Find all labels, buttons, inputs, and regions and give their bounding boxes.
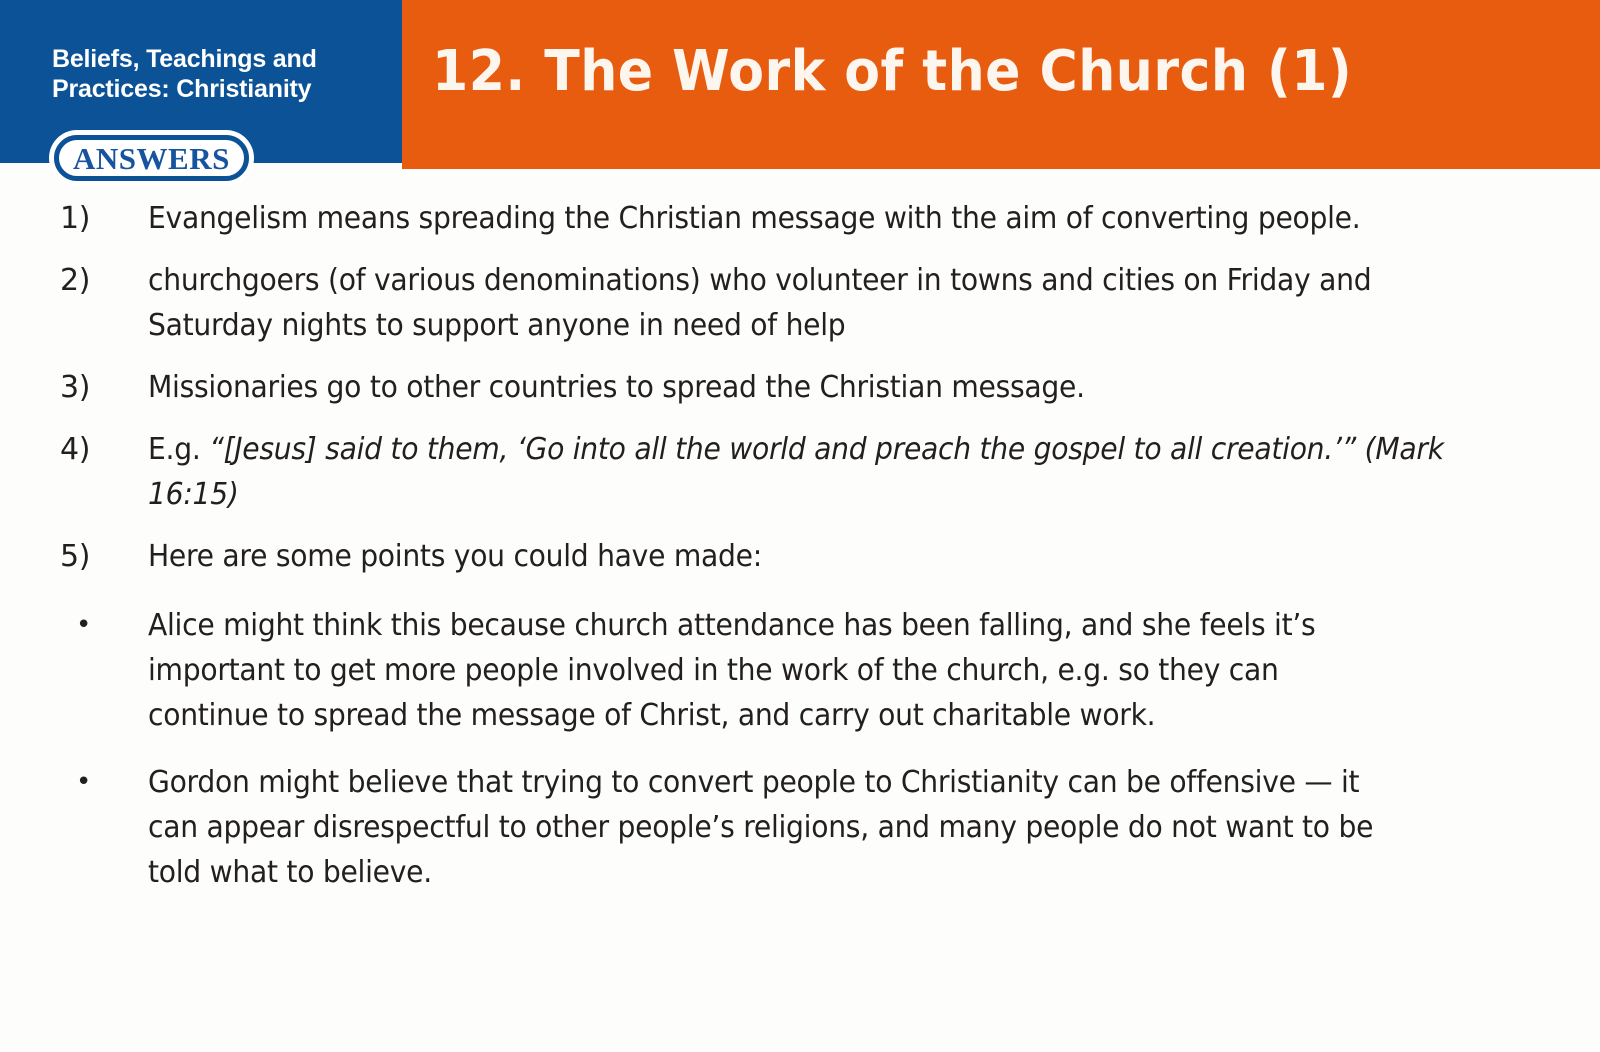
subject-title-line-2: Practices: Christianity bbox=[52, 74, 382, 104]
subject-title-line-1: Beliefs, Teachings and bbox=[52, 45, 317, 73]
answer-bullet-gordon: • Gordon might believe that trying to co… bbox=[0, 760, 1600, 895]
answer-text: Alice might think this because church at… bbox=[148, 603, 1400, 738]
answers-badge: ANSWERS bbox=[54, 135, 249, 181]
answer-item-4: 4) E.g. “[Jesus] said to them, ‘Go into … bbox=[0, 427, 1600, 517]
answer-item-5: 5) Here are some points you could have m… bbox=[0, 534, 1600, 579]
bullet-marker: • bbox=[76, 760, 148, 805]
answer-list: 1) Evangelism means spreading the Christ… bbox=[0, 196, 1600, 895]
answer-text: Gordon might believe that trying to conv… bbox=[148, 760, 1400, 895]
list-marker: 1) bbox=[60, 196, 132, 241]
answer-prefix: E.g. bbox=[148, 432, 209, 467]
page-title: 12. The Work of the Church (1) bbox=[432, 38, 1352, 106]
page-header: Beliefs, Teachings and Practices: Christ… bbox=[0, 0, 1600, 170]
answer-text: churchgoers (of various denominations) w… bbox=[148, 258, 1480, 348]
answer-item-2: 2) churchgoers (of various denominations… bbox=[0, 258, 1600, 348]
bullet-marker: • bbox=[76, 603, 148, 648]
answer-text: Missionaries go to other countries to sp… bbox=[148, 365, 1480, 410]
answer-bullet-alice: • Alice might think this because church … bbox=[0, 603, 1600, 738]
answer-item-3: 3) Missionaries go to other countries to… bbox=[0, 365, 1600, 410]
answer-text: Here are some points you could have made… bbox=[148, 534, 1480, 579]
list-marker: 3) bbox=[60, 365, 132, 410]
answers-content: 1) Evangelism means spreading the Christ… bbox=[0, 196, 1600, 917]
scripture-quote: “[Jesus] said to them, ‘Go into all the … bbox=[148, 432, 1444, 512]
answer-text: Evangelism means spreading the Christian… bbox=[148, 196, 1480, 241]
subject-title: Beliefs, Teachings and Practices: Christ… bbox=[52, 44, 382, 104]
answers-badge-label: ANSWERS bbox=[73, 143, 230, 174]
answer-text: E.g. “[Jesus] said to them, ‘Go into all… bbox=[148, 427, 1480, 517]
list-marker: 2) bbox=[60, 258, 132, 303]
list-marker: 4) bbox=[60, 427, 132, 472]
answer-item-1: 1) Evangelism means spreading the Christ… bbox=[0, 196, 1600, 241]
list-marker: 5) bbox=[60, 534, 132, 579]
